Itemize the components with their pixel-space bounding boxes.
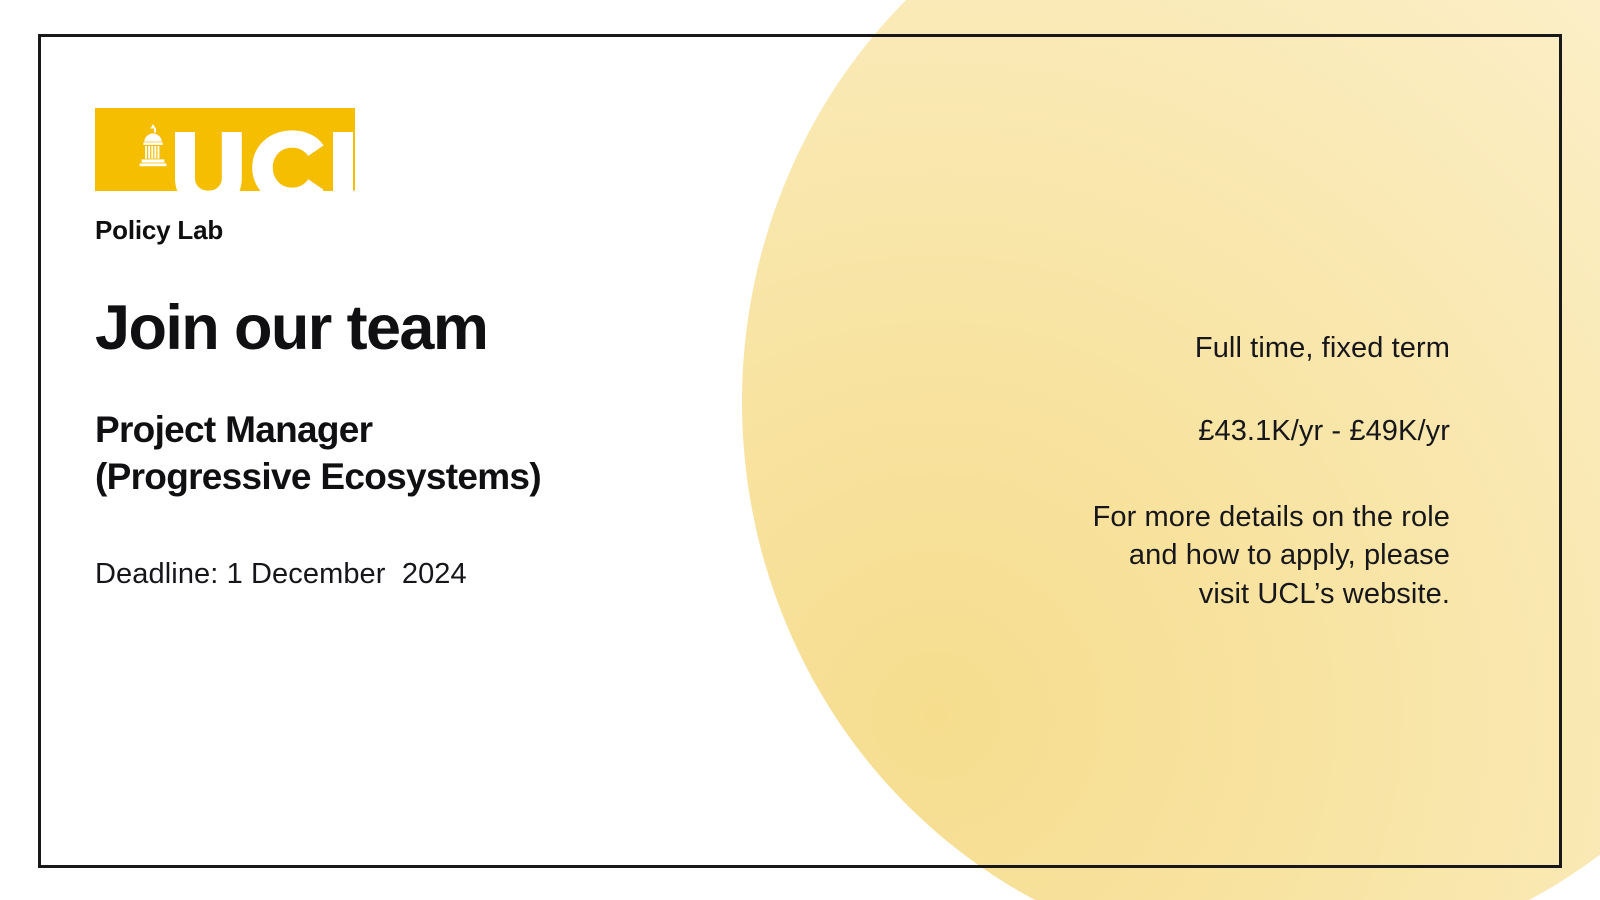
ucl-wordmark-svg <box>95 108 355 220</box>
ucl-logo <box>95 108 355 191</box>
job-advert-poster: Policy Lab Join our team Project Manager… <box>0 0 1600 900</box>
policy-lab-label: Policy Lab <box>95 217 815 243</box>
application-deadline: Deadline: 1 December 2024 <box>95 557 815 592</box>
left-content-column: Policy Lab Join our team Project Manager… <box>95 108 815 592</box>
job-title: Project Manager (Progressive Ecosystems) <box>95 406 815 501</box>
salary-range: £43.1K/yr - £49K/yr <box>950 413 1450 449</box>
contract-type: Full time, fixed term <box>950 330 1450 366</box>
ucl-logo-artwork <box>95 108 355 218</box>
right-content-column: Full time, fixed term £43.1K/yr - £49K/y… <box>950 330 1450 613</box>
page-title: Join our team <box>95 297 815 360</box>
application-details: For more details on the role and how to … <box>950 498 1450 614</box>
